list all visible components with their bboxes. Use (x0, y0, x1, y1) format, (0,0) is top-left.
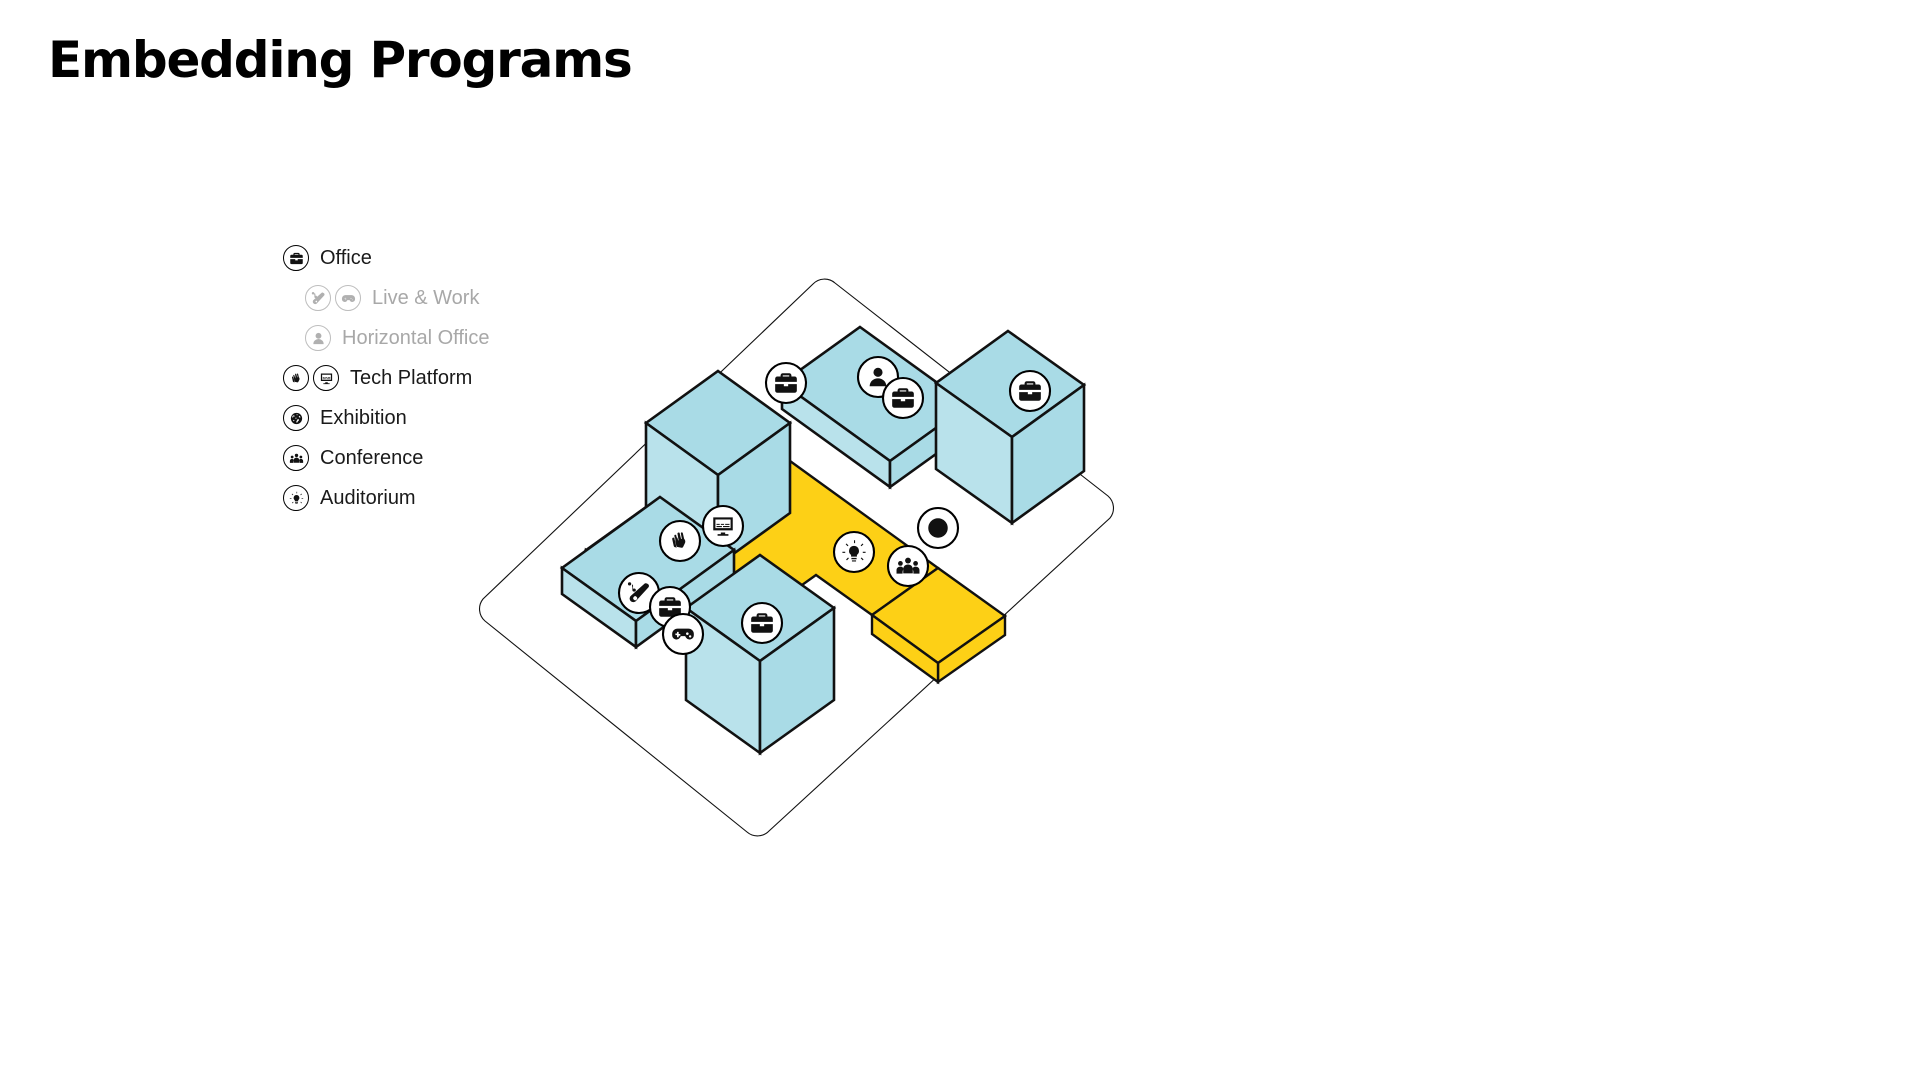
legend-item-label: Tech Platform (350, 367, 472, 390)
legend-icon-group (305, 325, 335, 351)
hands-icon (283, 365, 309, 391)
legend-item-label: Exhibition (320, 407, 407, 430)
legend-icon-group (283, 245, 313, 271)
badge-office-north-tower[interactable] (766, 363, 806, 403)
gamepad-icon (335, 285, 361, 311)
building-east-tower (936, 331, 1084, 523)
isometric-massing-diagram (460, 265, 1160, 865)
badge-auditorium[interactable] (834, 532, 874, 572)
person-icon (305, 325, 331, 351)
globe-icon (283, 405, 309, 431)
badge-tech-platform-monitor[interactable] (703, 506, 743, 546)
lightbulb-icon (283, 485, 309, 511)
legend-item-label: Office (320, 247, 372, 270)
monitor-icon (313, 365, 339, 391)
badge-office-south-tower[interactable] (742, 603, 782, 643)
badge-tech-platform-hands[interactable] (660, 521, 700, 561)
music-baton-icon (305, 285, 331, 311)
legend-item-label: Conference (320, 447, 423, 470)
legend-icon-group (305, 285, 365, 311)
badge-office-slab[interactable] (883, 378, 923, 418)
legend-icon-group (283, 365, 343, 391)
badge-conference[interactable] (888, 546, 928, 586)
badge-office-east-tower[interactable] (1010, 371, 1050, 411)
legend-icon-group (283, 405, 313, 431)
badge-live-work-gamepad[interactable] (663, 614, 703, 654)
legend-icon-group (283, 485, 313, 511)
badge-exhibition[interactable] (918, 508, 958, 548)
briefcase-icon (283, 245, 309, 271)
page-title: Embedding Programs (48, 33, 632, 88)
legend-icon-group (283, 445, 313, 471)
people-group-icon (283, 445, 309, 471)
legend-item-label: Auditorium (320, 487, 416, 510)
